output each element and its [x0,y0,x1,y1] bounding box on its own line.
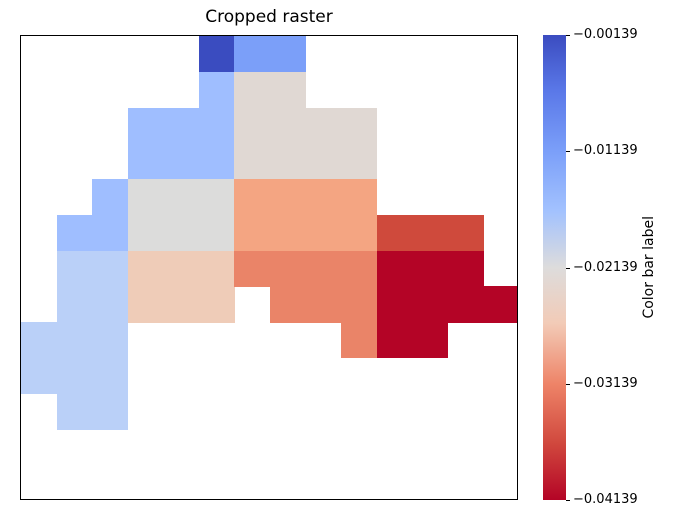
colorbar-tick [566,384,570,385]
colorbar-gradient [543,35,566,500]
raster-cell [234,72,306,108]
raster-cell [128,251,235,323]
raster-cell [57,251,129,359]
raster-grid [21,36,517,499]
raster-cell [234,36,306,72]
raster-cell [234,251,377,287]
raster-cell [92,179,128,251]
colorbar-axis-label: Color bar label [638,35,660,500]
raster-cell [199,36,235,72]
raster-cell [377,322,449,358]
colorbar-tick-label: −0.00139 [573,28,638,42]
colorbar-axis-label-text: Color bar label [641,216,657,319]
raster-cell [199,72,235,108]
colorbar-tick-label: −0.01139 [573,144,638,158]
raster-cell [128,179,235,251]
colorbar-tick [566,35,570,36]
raster-cell [57,358,129,430]
colorbar-tick [566,151,570,152]
raster-cell [270,286,377,322]
raster-axes[interactable] [20,35,518,500]
page-title: Cropped raster [20,6,518,28]
colorbar[interactable]: −0.00139−0.01139−0.02139−0.03139−0.04139 [543,35,566,500]
raster-cell [377,251,484,323]
raster-cell [234,179,377,251]
colorbar-tick-label: −0.02139 [573,261,638,275]
raster-cell [234,108,377,180]
raster-cell [21,322,57,394]
colorbar-tick-label: −0.03139 [573,377,638,391]
raster-cell [483,286,518,322]
colorbar-tick-label: −0.04139 [573,493,638,507]
colorbar-tick [566,268,570,269]
figure-canvas: Cropped raster −0.00139−0.01139−0.02139−… [0,0,678,517]
colorbar-tick [566,500,570,501]
raster-cell [377,215,484,251]
raster-cell [341,322,377,358]
